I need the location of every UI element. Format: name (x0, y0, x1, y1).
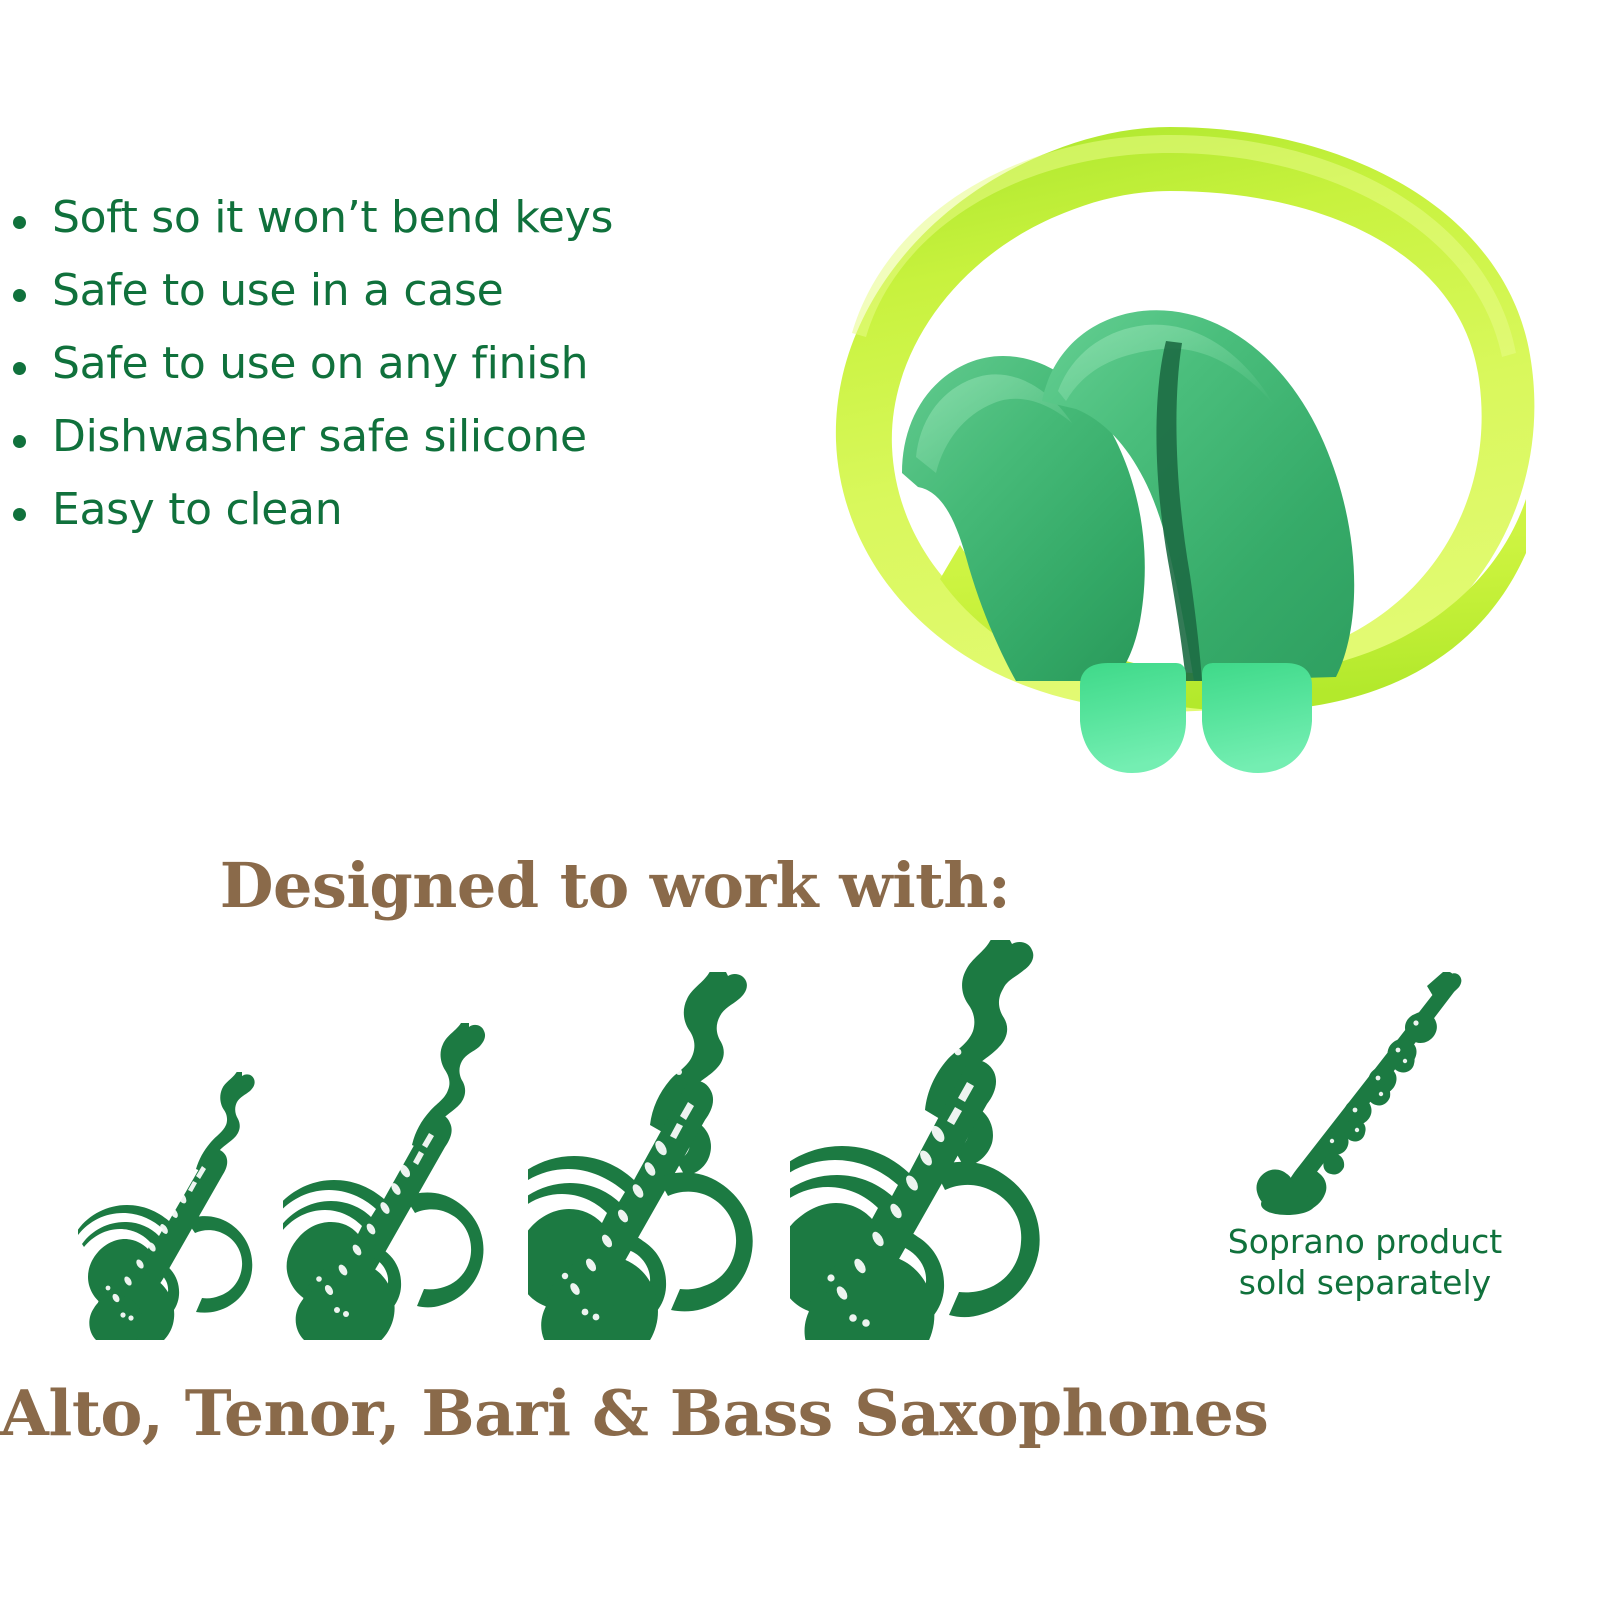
list-item: Easy to clean (0, 488, 760, 532)
feature-label: Easy to clean (52, 488, 342, 532)
list-item: Safe to use on any finish (0, 342, 760, 386)
soprano-caption-line-2: sold separately (1190, 1263, 1540, 1304)
sax-bari-icon (528, 972, 816, 1340)
soprano-caption: Soprano product sold separately (1190, 1222, 1540, 1304)
left-foot (1080, 663, 1186, 773)
right-foot (1202, 663, 1312, 773)
bullet-dot-icon (13, 362, 26, 375)
feature-label: Dishwasher safe silicone (52, 415, 587, 459)
sax-tenor-icon (283, 1023, 531, 1340)
sax-soprano-icon (1255, 972, 1465, 1222)
bullet-dot-icon (13, 289, 26, 302)
bullet-dot-icon (13, 435, 26, 448)
list-item: Soft so it won’t bend keys (0, 196, 760, 240)
compatible-instruments-caption: Alto, Tenor, Bari & Bass Saxophones (0, 1376, 1230, 1450)
feature-label: Safe to use in a case (52, 269, 503, 313)
list-item: Safe to use in a case (0, 269, 760, 313)
bullet-dot-icon (13, 216, 26, 229)
sax-alto-icon (78, 1072, 288, 1340)
feature-label: Soft so it won’t bend keys (52, 196, 613, 240)
sax-bass-icon (790, 940, 1110, 1340)
designed-to-work-with-heading: Designed to work with: (0, 849, 1230, 922)
list-item: Dishwasher safe silicone (0, 415, 760, 459)
infographic-page: Soft so it won’t bend keys Safe to use i… (0, 0, 1600, 1600)
soprano-caption-line-1: Soprano product (1190, 1222, 1540, 1263)
feature-label: Safe to use on any finish (52, 342, 588, 386)
bullet-dot-icon (13, 508, 26, 521)
product-photo (790, 105, 1560, 785)
feature-list: Soft so it won’t bend keys Safe to use i… (0, 196, 760, 561)
